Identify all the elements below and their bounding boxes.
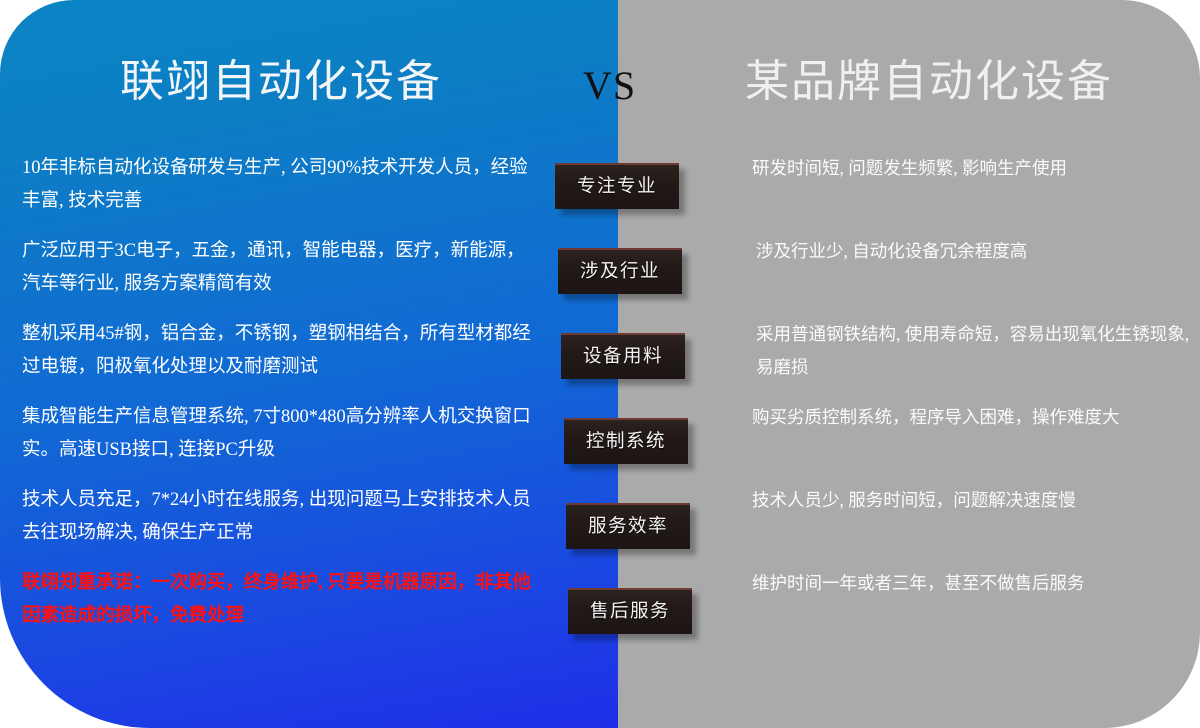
comparison-slide: 联翊自动化设备 VS 某品牌自动化设备 10年非标自动化设备研发与生产, 公司9…: [0, 0, 1200, 728]
badge-label: 售后服务: [590, 602, 670, 622]
left-feature-row: 10年非标自动化设备研发与生产, 公司90%技术开发人员，经验丰富, 技术完善: [22, 152, 534, 235]
comparison-badge-control-system: 控制系统: [564, 418, 688, 464]
badge-label: 设备用料: [583, 347, 663, 367]
vs-label: VS: [583, 62, 636, 110]
comparison-badge-industries: 涉及行业: [558, 248, 682, 294]
left-feature-row: 集成智能生产信息管理系统, 7寸800*480高分辨率人机交换窗口实。高速USB…: [22, 401, 534, 484]
comparison-badge-focus: 专注专业: [555, 163, 679, 209]
right-feature-row: 研发时间短, 问题发生频繁, 影响生产使用: [742, 152, 1190, 235]
right-feature-row: 技术人员少, 服务时间短，问题解决速度慢: [742, 484, 1190, 567]
right-feature-row: 维护时间一年或者三年，甚至不做售后服务: [742, 567, 1190, 650]
left-feature-row-highlighted: 联翊郑重承诺：一次购买，终身维护, 只要是机器原因，非其他因素造成的损坏，免费处…: [22, 567, 534, 650]
badge-label: 控制系统: [586, 432, 666, 452]
badge-label: 涉及行业: [580, 262, 660, 282]
left-feature-row: 广泛应用于3C电子，五金，通讯，智能电器，医疗，新能源，汽车等行业, 服务方案精…: [22, 235, 534, 318]
comparison-badge-service-efficiency: 服务效率: [566, 503, 690, 549]
comparison-badge-materials: 设备用料: [561, 333, 685, 379]
right-feature-list: 研发时间短, 问题发生频繁, 影响生产使用 涉及行业少, 自动化设备冗余程度高 …: [742, 152, 1190, 650]
left-feature-list: 10年非标自动化设备研发与生产, 公司90%技术开发人员，经验丰富, 技术完善 …: [22, 152, 534, 650]
right-column-title: 某品牌自动化设备: [745, 54, 1113, 110]
right-feature-row: 采用普通钢铁结构, 使用寿命短，容易出现氧化生锈现象, 易磨损: [742, 318, 1190, 401]
badge-label: 专注专业: [577, 177, 657, 197]
left-column-title: 联翊自动化设备: [120, 54, 442, 110]
left-feature-row: 技术人员充足，7*24小时在线服务, 出现问题马上安排技术人员去往现场解决, 确…: [22, 484, 534, 567]
right-feature-row: 涉及行业少, 自动化设备冗余程度高: [742, 235, 1190, 318]
right-feature-row: 购买劣质控制系统，程序导入困难，操作难度大: [742, 401, 1190, 484]
badge-label: 服务效率: [588, 517, 668, 537]
left-feature-row: 整机采用45#钢，铝合金，不锈钢，塑钢相结合，所有型材都经过电镀，阳极氧化处理以…: [22, 318, 534, 401]
comparison-badge-after-sales: 售后服务: [568, 588, 692, 634]
